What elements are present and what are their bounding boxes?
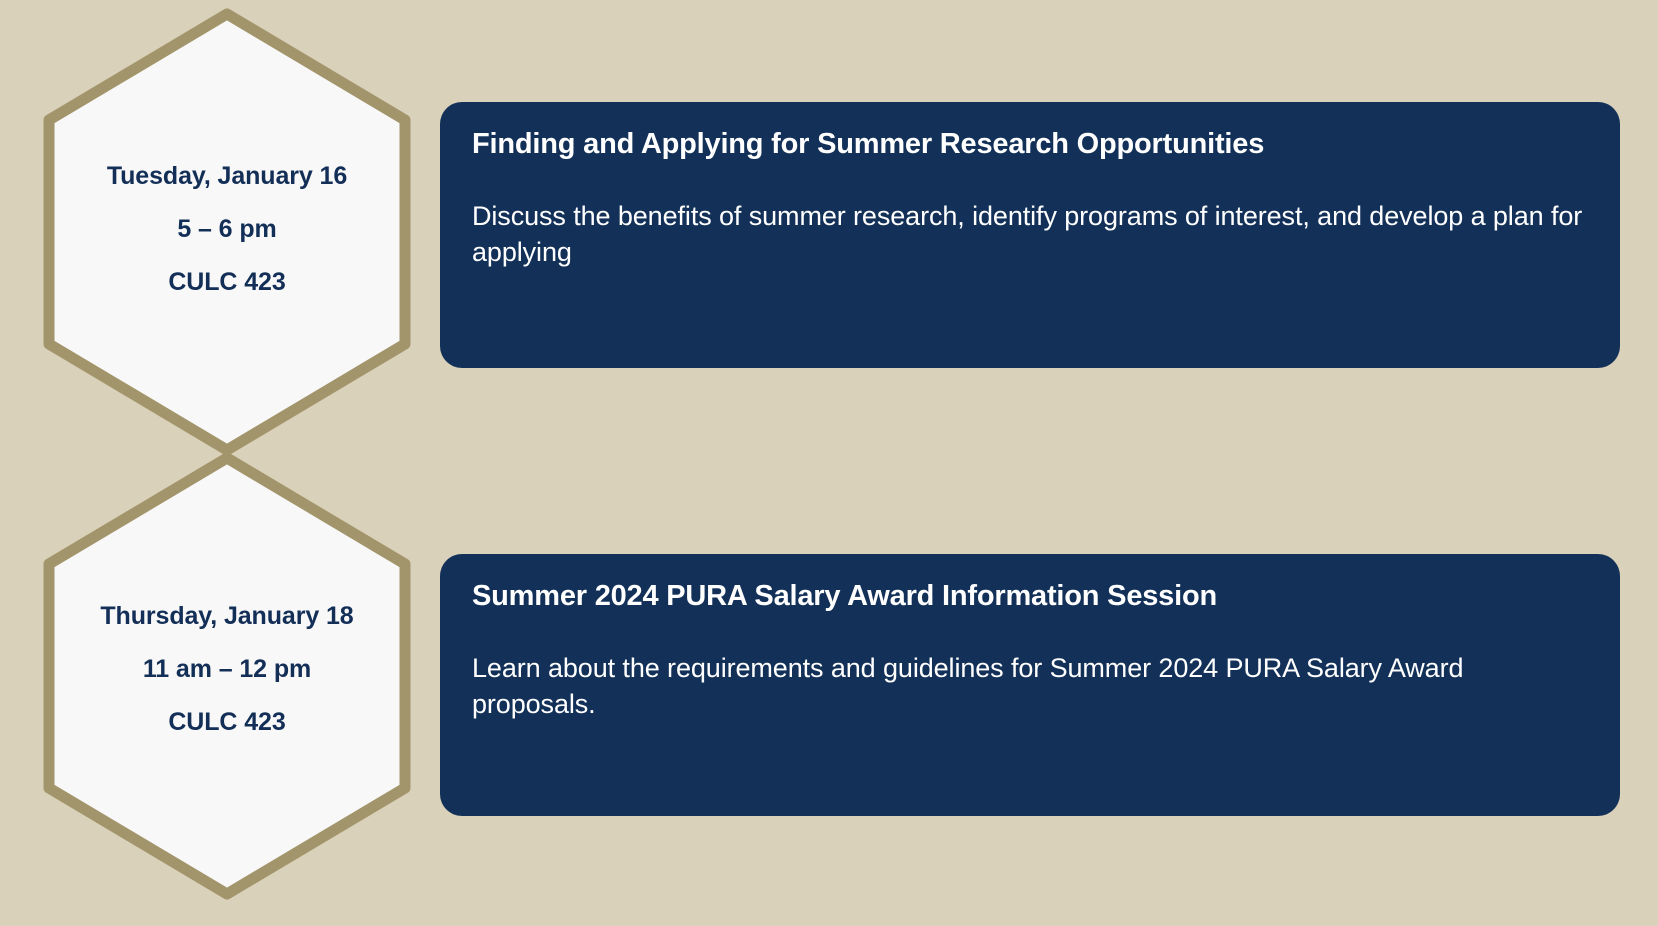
event-schedule-graphic: Tuesday, January 16 5 – 6 pm CULC 423 Fi… xyxy=(0,0,1658,926)
event-description-1: Discuss the benefits of summer research,… xyxy=(472,199,1590,270)
event-title-2: Summer 2024 PURA Salary Award Informatio… xyxy=(472,580,1590,613)
event-card-1: Finding and Applying for Summer Research… xyxy=(440,102,1620,368)
event-location-2: CULC 423 xyxy=(36,710,418,735)
event-date-1: Tuesday, January 16 xyxy=(36,164,418,189)
event-location-1: CULC 423 xyxy=(36,270,418,295)
event-badge-text-2: Thursday, January 18 11 am – 12 pm CULC … xyxy=(36,604,418,735)
event-card-2: Summer 2024 PURA Salary Award Informatio… xyxy=(440,554,1620,816)
event-date-badge-2: Thursday, January 18 11 am – 12 pm CULC … xyxy=(36,452,418,900)
event-description-2: Learn about the requirements and guideli… xyxy=(472,651,1590,722)
event-date-badge-1: Tuesday, January 16 5 – 6 pm CULC 423 xyxy=(36,8,418,456)
event-time-2: 11 am – 12 pm xyxy=(36,657,418,682)
event-time-1: 5 – 6 pm xyxy=(36,217,418,242)
event-date-2: Thursday, January 18 xyxy=(36,604,418,629)
event-badge-text-1: Tuesday, January 16 5 – 6 pm CULC 423 xyxy=(36,164,418,295)
event-title-1: Finding and Applying for Summer Research… xyxy=(472,128,1590,161)
